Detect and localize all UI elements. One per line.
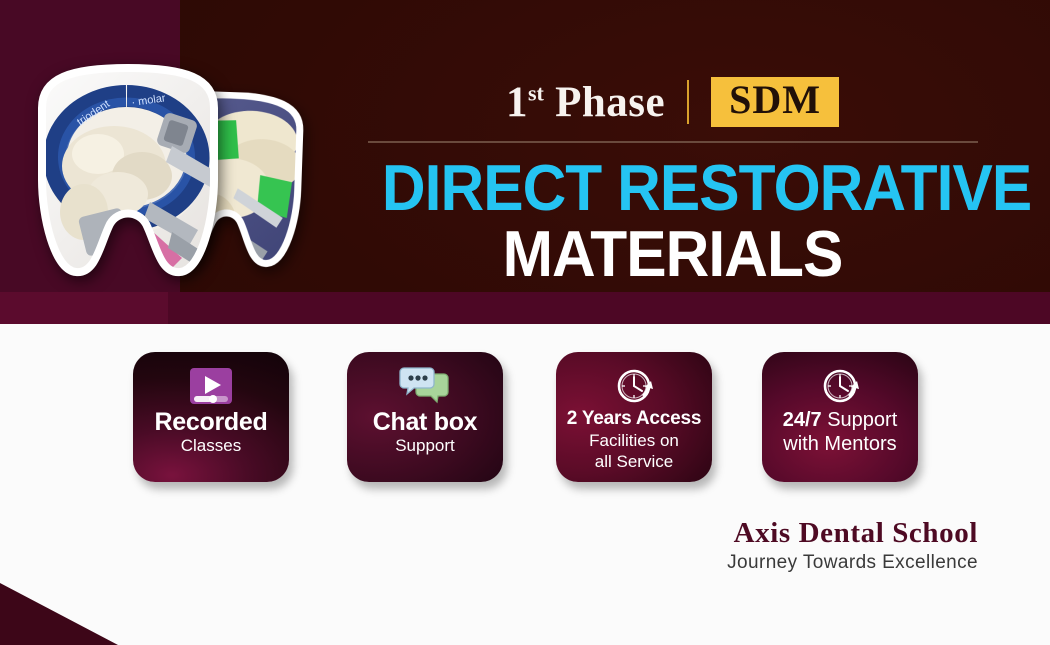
feature-cards: Recorded Classes Chat box Support [0,352,1050,488]
tooth-artwork: triodent · molar [22,62,312,292]
sdm-badge: SDM [711,77,839,127]
feature-card-recorded-classes[interactable]: Recorded Classes [133,352,289,482]
molar-tooth-photo-with-blue-matrix-band-icon: triodent · molar [22,62,234,284]
card-label: Recorded Classes [149,408,274,456]
phase-word: Phase [555,79,665,126]
card-subtitle: with Mentors [783,432,898,456]
card-label: 2 Years Access Facilities on all Service [561,408,708,472]
card-title: 24/7 Support [783,408,898,432]
feature-card-support-with-mentors[interactable]: 24/7 Support with Mentors [762,352,918,482]
page-title-line-2: MATERIALS [382,221,963,287]
card-title: Recorded [155,408,268,436]
headline-block: 1st Phase SDM DIRECT RESTORATIVE MATERIA… [360,70,985,288]
banner-header: triodent · molar [0,0,1050,324]
card-title-rest: Support [822,409,898,431]
phase-label: 1st Phase [506,78,665,127]
phase-ordinal-suffix: st [528,80,544,105]
card-title: 2 Years Access [567,408,702,431]
promo-poster: triodent · molar [0,0,1050,645]
feature-card-chat-box-support[interactable]: Chat box Support [347,352,503,482]
vertical-divider [687,80,689,124]
video-play-icon [189,364,233,408]
card-label: Chat box Support [367,408,484,456]
brand-name: Axis Dental School [727,518,978,550]
phase-number: 1 [506,79,528,126]
brand-logo: Axis Dental School Journey Towards Excel… [727,518,978,574]
page-title-line-1: DIRECT RESTORATIVE [382,155,963,221]
card-subtitle: Classes [155,436,268,456]
card-subtitle: Support [373,436,478,456]
card-title: Chat box [373,408,478,436]
chat-bubbles-icon [398,364,452,408]
phase-row: 1st Phase SDM [360,70,985,134]
card-title-highlight: 24/7 [783,409,822,431]
card-subtitle: Facilities on [567,431,702,452]
feature-card-two-years-access[interactable]: 2 Years Access Facilities on all Service [556,352,712,482]
clock-arrow-icon [819,364,861,408]
card-subtitle-2: all Service [567,452,702,473]
brand-tagline: Journey Towards Excellence [727,552,978,574]
card-label: 24/7 Support with Mentors [777,408,904,457]
corner-wedge-decoration [0,583,118,645]
header-rule [368,141,978,143]
clock-arrow-icon [613,364,655,408]
banner-bottom-strip-left [0,292,168,324]
